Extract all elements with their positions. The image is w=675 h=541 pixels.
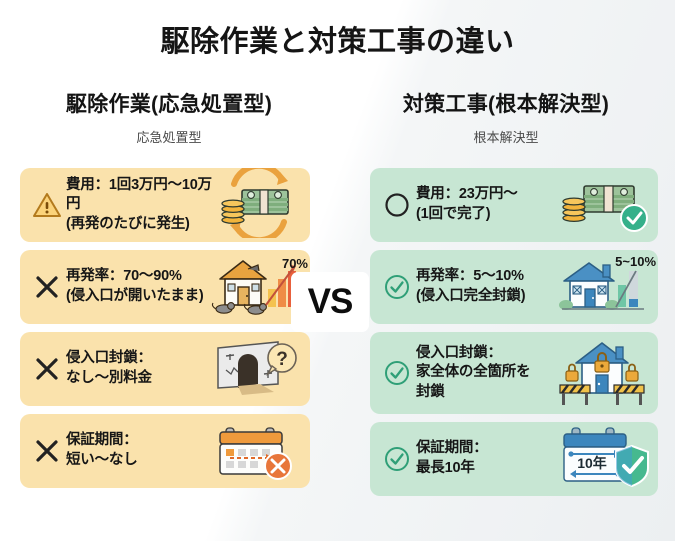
check-circle-icon bbox=[380, 270, 414, 304]
column-heading: 駆除作業(応急処置型) bbox=[4, 88, 334, 118]
card-label: 保証期間： 最長10年 bbox=[414, 439, 558, 478]
check-circle-icon bbox=[380, 442, 414, 476]
card-label: 費用：1回3万円〜10万円 (再発のたびに発生) bbox=[64, 176, 216, 235]
money-stack-green-check-illustration bbox=[558, 168, 650, 242]
card-warranty-removal: 保証期間： 短い〜なし bbox=[20, 414, 310, 488]
calendar-year-label: 10年 bbox=[577, 455, 607, 471]
cross-mark-icon bbox=[30, 352, 64, 386]
chart-value-label: 5~10% bbox=[615, 254, 656, 269]
card-stack-left: 費用：1回3万円〜10万円 (再発のたびに発生) bbox=[20, 168, 310, 488]
column-subheading: 根本解決型 bbox=[341, 127, 671, 146]
card-recurrence-removal: 再発率：70〜90% (侵入口が開いたまま) bbox=[20, 250, 310, 324]
svg-text:?: ? bbox=[276, 349, 288, 370]
card-label: 侵入口封鎖： 家全体の全箇所を 封鎖 bbox=[414, 344, 554, 403]
card-cost-construction: 費用：23万円〜 (1回で完了) bbox=[370, 168, 658, 242]
open-hole-question-mark-illustration: ? bbox=[212, 334, 302, 405]
check-circle-icon bbox=[380, 356, 414, 390]
warning-triangle-icon bbox=[30, 188, 64, 222]
card-stack-right: 費用：23万円〜 (1回で完了) bbox=[370, 168, 658, 496]
card-warranty-construction: 保証期間： 最長10年 10年 bbox=[370, 422, 658, 496]
infographic-root: 駆除作業と対策工事の違い 駆除作業(応急処置型) 応急処置型 対策工事(根本解決… bbox=[0, 0, 675, 541]
circle-mark-icon bbox=[380, 188, 414, 222]
card-label: 再発率：70〜90% (侵入口が開いたまま) bbox=[64, 267, 210, 306]
column-header-right: 対策工事(根本解決型) 根本解決型 bbox=[341, 88, 671, 146]
chart-value-label: 70% bbox=[282, 256, 308, 271]
card-recurrence-construction: 再発率：5〜10% (侵入口完全封鎖) bbox=[370, 250, 658, 324]
money-stack-recurring-arrows-illustration bbox=[216, 168, 302, 242]
calendar-shield-check-illustration: 10年 bbox=[558, 422, 650, 496]
vs-badge-label: VS bbox=[291, 272, 369, 332]
house-locks-barriers-illustration bbox=[554, 333, 650, 414]
cross-mark-icon bbox=[30, 270, 64, 304]
card-label: 侵入口封鎖： なし〜別料金 bbox=[64, 349, 212, 388]
column-header-left: 駆除作業(応急処置型) 応急処置型 bbox=[4, 88, 334, 146]
column-heading: 対策工事(根本解決型) bbox=[341, 88, 671, 118]
column-subheading: 応急処置型 bbox=[4, 127, 334, 146]
card-cost-removal: 費用：1回3万円〜10万円 (再発のたびに発生) bbox=[20, 168, 310, 242]
card-sealing-construction: 侵入口封鎖： 家全体の全箇所を 封鎖 bbox=[370, 332, 658, 414]
cross-mark-icon bbox=[30, 434, 64, 468]
card-label: 費用：23万円〜 (1回で完了) bbox=[414, 185, 558, 224]
card-label: 再発率：5〜10% (侵入口完全封鎖) bbox=[414, 267, 558, 306]
calendar-with-x-mark-illustration bbox=[216, 416, 302, 487]
card-label: 保証期間： 短い〜なし bbox=[64, 431, 216, 470]
page-title: 駆除作業と対策工事の違い bbox=[0, 18, 675, 60]
card-sealing-removal: 侵入口封鎖： なし〜別料金 ? bbox=[20, 332, 310, 406]
